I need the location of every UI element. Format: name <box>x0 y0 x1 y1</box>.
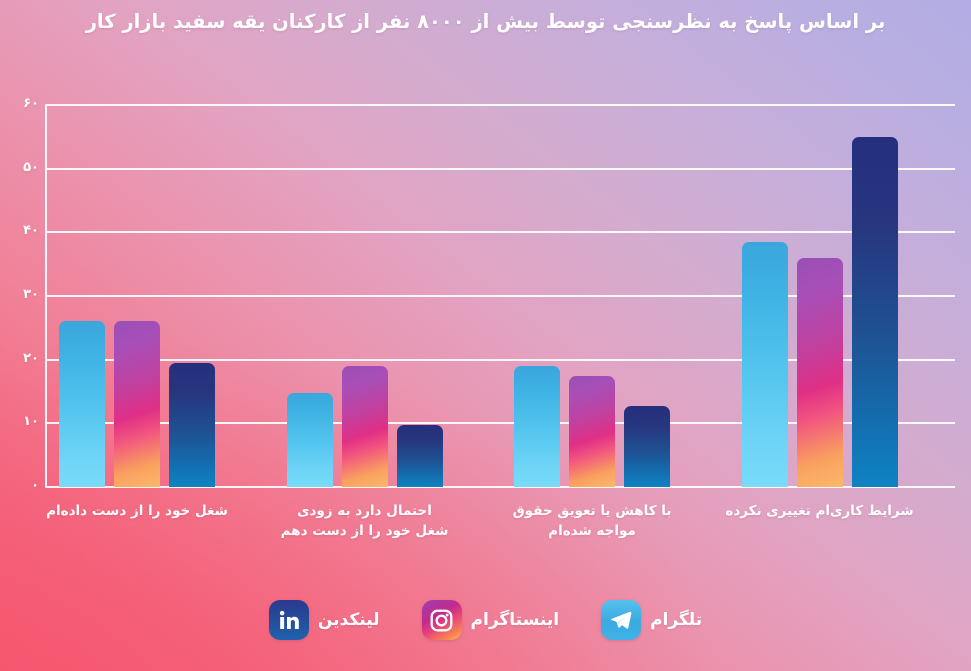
social-links-row: تلگراماینستاگراملینکدین <box>0 600 971 640</box>
bar <box>342 366 388 487</box>
bar <box>852 137 898 487</box>
y-axis-tick-label: ۴۰ <box>9 223 39 238</box>
x-axis-category-label: شرایط کاری‌ام تغییری نکرده <box>706 501 934 521</box>
telegram-icon[interactable] <box>601 600 641 640</box>
x-axis-label-line: با کاهش یا تعویق حقوق <box>478 501 706 521</box>
x-axis-label-line: احتمال دارد به زودی <box>251 501 479 521</box>
social-link-instagram[interactable]: اینستاگرام <box>422 600 560 640</box>
bar <box>742 242 788 487</box>
bar <box>397 425 443 487</box>
y-axis-tick-label: ۲۰ <box>9 351 39 366</box>
x-axis-label-line: شغل خود را از دست دهم <box>251 521 479 541</box>
gridline-50 <box>45 168 955 170</box>
x-axis-category-label: شغل خود را از دست داده‌ام <box>23 501 251 521</box>
social-label: اینستاگرام <box>471 610 560 630</box>
social-label: لینکدین <box>318 610 380 630</box>
gridline-60 <box>45 104 955 106</box>
y-axis-tick-label: ۰ <box>9 478 39 493</box>
page-title: بر اساس پاسخ به نظرسنجی توسط بیش از ۸۰۰۰… <box>0 8 971 36</box>
bar <box>797 258 843 487</box>
bar <box>169 363 215 487</box>
y-axis-tick-label: ۱۰ <box>9 414 39 429</box>
bar <box>114 321 160 487</box>
x-axis-label-line: مواجه شده‌ام <box>478 521 706 541</box>
gridline-40 <box>45 231 955 233</box>
bar <box>59 321 105 487</box>
y-axis-tick-label: ۵۰ <box>9 160 39 175</box>
x-axis-category-label: با کاهش یا تعویق حقوقمواجه شده‌ام <box>478 501 706 541</box>
bar <box>514 366 560 487</box>
linkedin-icon[interactable] <box>269 600 309 640</box>
bar <box>287 393 333 487</box>
social-link-telegram[interactable]: تلگرام <box>601 600 702 640</box>
y-axis-tick-label: ۳۰ <box>9 287 39 302</box>
x-axis-category-label: احتمال دارد به زودیشغل خود را از دست دهم <box>251 501 479 541</box>
social-link-linkedin[interactable]: لینکدین <box>269 600 380 640</box>
bar <box>624 406 670 487</box>
x-axis-label-line: شغل خود را از دست داده‌ام <box>23 501 251 521</box>
social-label: تلگرام <box>650 610 702 630</box>
x-axis-label-line: شرایط کاری‌ام تغییری نکرده <box>706 501 934 521</box>
bar <box>569 376 615 487</box>
bar-chart: ۰۱۰۲۰۳۰۴۰۵۰۶۰ شغل خود را از دست داده‌اما… <box>45 105 955 487</box>
instagram-icon[interactable] <box>422 600 462 640</box>
y-axis-tick-label: ۶۰ <box>9 96 39 111</box>
